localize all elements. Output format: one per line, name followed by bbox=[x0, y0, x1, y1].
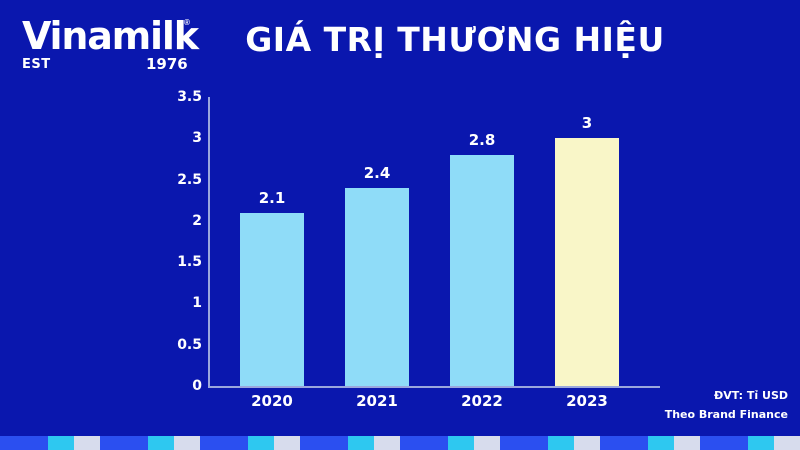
y-axis-tick-label: 0 bbox=[162, 379, 202, 393]
source-note: Theo Brand Finance bbox=[588, 405, 788, 424]
y-axis-tick-label: 3.5 bbox=[162, 90, 202, 104]
strip-cell bbox=[174, 436, 200, 450]
strip-cell bbox=[148, 436, 174, 450]
bar-value-label: 2.8 bbox=[450, 132, 514, 148]
y-axis-tick-label: 2.5 bbox=[162, 173, 202, 187]
strip-cell bbox=[648, 436, 674, 450]
bar-2020[interactable]: 2.1 bbox=[240, 213, 304, 386]
strip-cell bbox=[700, 436, 748, 450]
strip-cell bbox=[600, 436, 648, 450]
x-axis-tick-label: 2021 bbox=[345, 392, 409, 410]
y-axis-line bbox=[208, 97, 210, 387]
strip-cell bbox=[274, 436, 300, 450]
y-axis-tick-label: 0.5 bbox=[162, 338, 202, 352]
strip-cell bbox=[474, 436, 500, 450]
bar-chart: 00.511.522.533.5 2.12.42.83 202020212022… bbox=[0, 0, 800, 450]
strip-cell bbox=[748, 436, 774, 450]
bar-2022[interactable]: 2.8 bbox=[450, 155, 514, 386]
strip-cell bbox=[774, 436, 800, 450]
strip-cell bbox=[74, 436, 100, 450]
decorative-bottom-strip bbox=[0, 436, 800, 450]
strip-cell bbox=[574, 436, 600, 450]
strip-cell bbox=[400, 436, 448, 450]
strip-cell bbox=[548, 436, 574, 450]
unit-note: ĐVT: Tỉ USD bbox=[588, 386, 788, 405]
strip-cell bbox=[674, 436, 700, 450]
chart-notes: ĐVT: Tỉ USD Theo Brand Finance bbox=[588, 386, 788, 424]
strip-cell bbox=[374, 436, 400, 450]
strip-cell bbox=[48, 436, 74, 450]
bar-2023[interactable]: 3 bbox=[555, 138, 619, 386]
y-axis-tick-label: 1.5 bbox=[162, 255, 202, 269]
bar-value-label: 3 bbox=[555, 115, 619, 131]
y-axis-tick-label: 1 bbox=[162, 296, 202, 310]
strip-cell bbox=[300, 436, 348, 450]
y-axis-tick-labels: 00.511.522.533.5 bbox=[160, 0, 202, 450]
bar-value-label: 2.1 bbox=[240, 190, 304, 206]
strip-cell bbox=[248, 436, 274, 450]
slide-root: Vinamilk ® EST 1976 GIÁ TRỊ THƯƠNG HIỆU … bbox=[0, 0, 800, 450]
strip-cell bbox=[500, 436, 548, 450]
strip-cell bbox=[100, 436, 148, 450]
y-axis-tick-label: 2 bbox=[162, 214, 202, 228]
strip-cell bbox=[348, 436, 374, 450]
y-axis-tick-label: 3 bbox=[162, 131, 202, 145]
strip-cell bbox=[448, 436, 474, 450]
strip-cell bbox=[0, 436, 48, 450]
strip-cell bbox=[200, 436, 248, 450]
x-axis-tick-label: 2022 bbox=[450, 392, 514, 410]
bar-2021[interactable]: 2.4 bbox=[345, 188, 409, 386]
bar-value-label: 2.4 bbox=[345, 165, 409, 181]
x-axis-tick-label: 2020 bbox=[240, 392, 304, 410]
